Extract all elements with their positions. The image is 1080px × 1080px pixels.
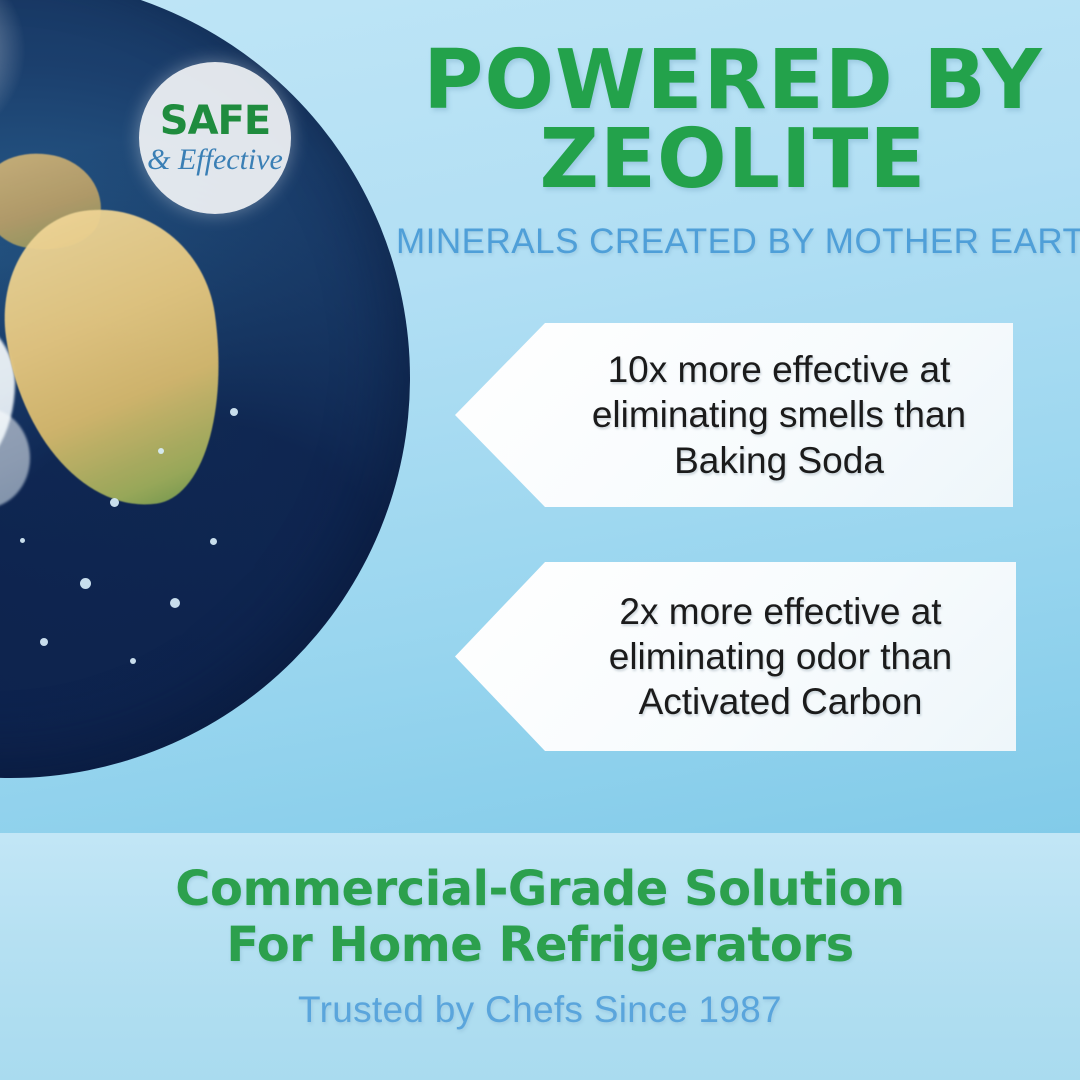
callout-2-line-3: Activated Carbon — [639, 681, 923, 722]
globe-speck — [230, 408, 238, 416]
callout-1-line-2: eliminating smells than — [592, 394, 966, 435]
globe-speck — [110, 498, 119, 507]
globe-ice-patch — [0, 408, 30, 508]
globe-speck — [80, 578, 91, 589]
footer-heading-line-2: For Home Refrigerators — [0, 918, 1080, 974]
badge-effective-label: & Effective — [147, 143, 283, 176]
callout-baking-soda: 10x more effective at eliminating smells… — [455, 323, 1013, 507]
badge-safe-label: SAFE — [160, 101, 270, 141]
callout-2-line-2: eliminating odor than — [609, 636, 953, 677]
footer-block: Commercial-Grade Solution For Home Refri… — [0, 862, 1080, 1031]
footer-tagline: Trusted by Chefs Since 1987 — [0, 989, 1080, 1031]
footer-heading-line-1: Commercial-Grade Solution — [0, 862, 1080, 918]
callout-activated-carbon-text: 2x more effective at eliminating odor th… — [599, 589, 963, 724]
page-subtitle: MINERALS CREATED BY MOTHER EARTH — [396, 222, 1068, 262]
headline-line-1: POWERED BY — [400, 42, 1066, 121]
globe-landmass — [0, 195, 240, 521]
infographic-canvas: SAFE & Effective POWERED BY ZEOLITE MINE… — [0, 0, 1080, 1080]
globe-speck — [170, 598, 180, 608]
globe-speck — [210, 538, 217, 545]
page-title: POWERED BY ZEOLITE — [400, 42, 1066, 199]
safe-effective-badge: SAFE & Effective — [139, 62, 291, 214]
callout-activated-carbon: 2x more effective at eliminating odor th… — [455, 562, 1016, 751]
callout-1-line-1: 10x more effective at — [608, 349, 951, 390]
headline-line-2: ZEOLITE — [400, 121, 1066, 200]
globe-speck — [158, 448, 164, 454]
globe-speck — [40, 638, 48, 646]
callout-1-line-3: Baking Soda — [674, 440, 884, 481]
globe-speck — [130, 658, 136, 664]
globe-speck — [20, 538, 25, 543]
callout-2-line-1: 2x more effective at — [619, 591, 941, 632]
callout-baking-soda-text: 10x more effective at eliminating smells… — [582, 347, 976, 482]
